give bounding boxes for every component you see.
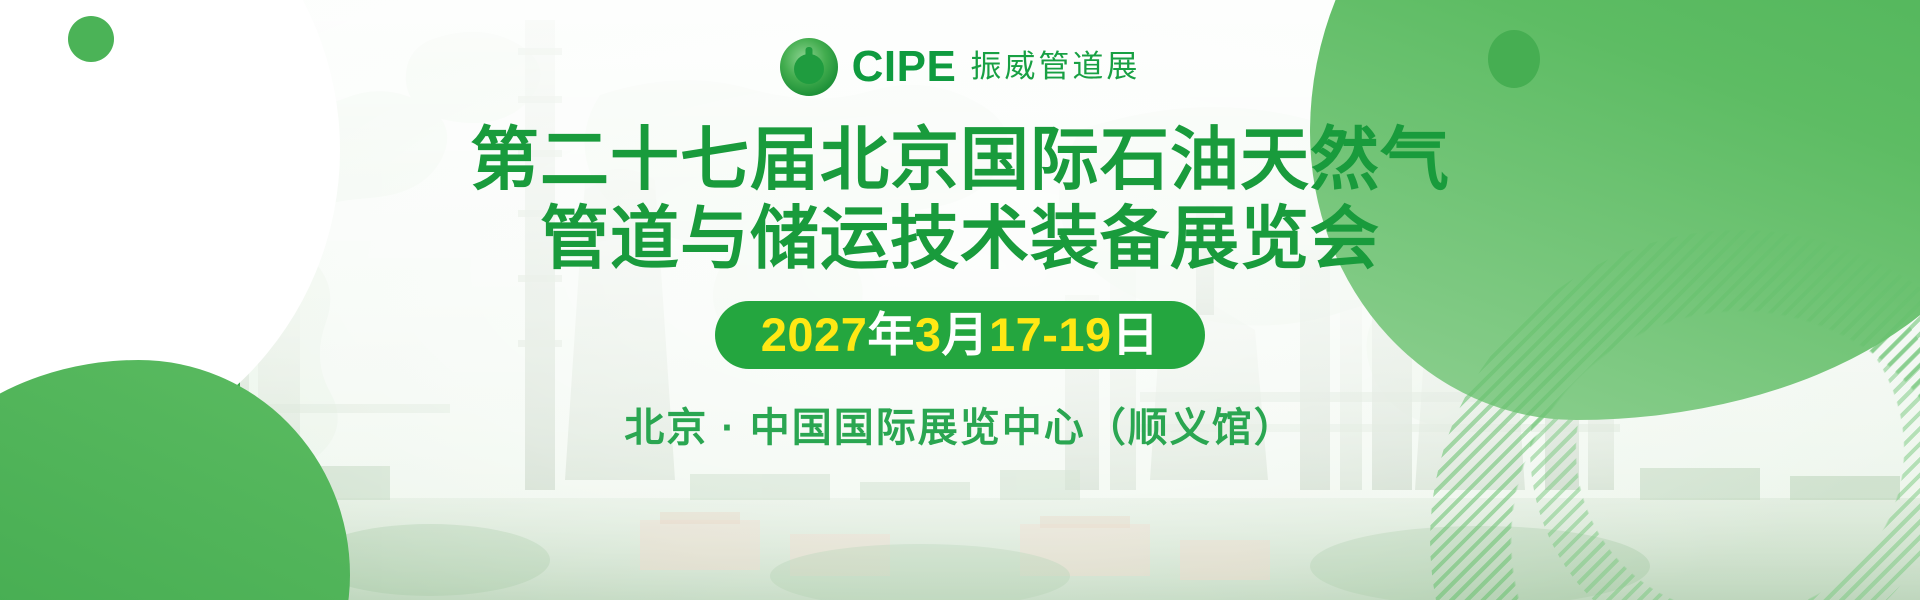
banner-content: CIPE 振威管道展 第二十七届北京国际石油天然气 管道与储运技术装备展览会 2…: [0, 0, 1920, 600]
date-month: 3: [915, 311, 942, 358]
cipe-logo[interactable]: CIPE 振威管道展: [780, 36, 1141, 98]
date-year: 2027: [761, 311, 868, 358]
logo-acronym: CIPE: [852, 45, 957, 89]
date-day-range: 17-19: [989, 311, 1112, 358]
title-line-1: 第二十七届北京国际石油天然气: [470, 120, 1450, 199]
venue-text: 北京 · 中国国际展览中心（顺义馆）: [624, 395, 1296, 453]
cipe-circular-mark-icon: [780, 38, 838, 96]
page-title: 第二十七届北京国际石油天然气 管道与储运技术装备展览会: [470, 120, 1450, 279]
title-line-2: 管道与储运技术装备展览会: [470, 199, 1450, 278]
date-day-unit: 日: [1112, 311, 1160, 358]
date-year-unit: 年: [867, 311, 915, 358]
logo-inner-circle-shape: [794, 54, 824, 84]
exhibition-banner: CIPE 振威管道展 第二十七届北京国际石油天然气 管道与储运技术装备展览会 2…: [0, 0, 1920, 600]
date-month-unit: 月: [941, 311, 989, 358]
logo-chinese-name: 振威管道展: [970, 51, 1140, 84]
date-badge: 2027 年 3 月 17-19 日: [715, 301, 1205, 369]
